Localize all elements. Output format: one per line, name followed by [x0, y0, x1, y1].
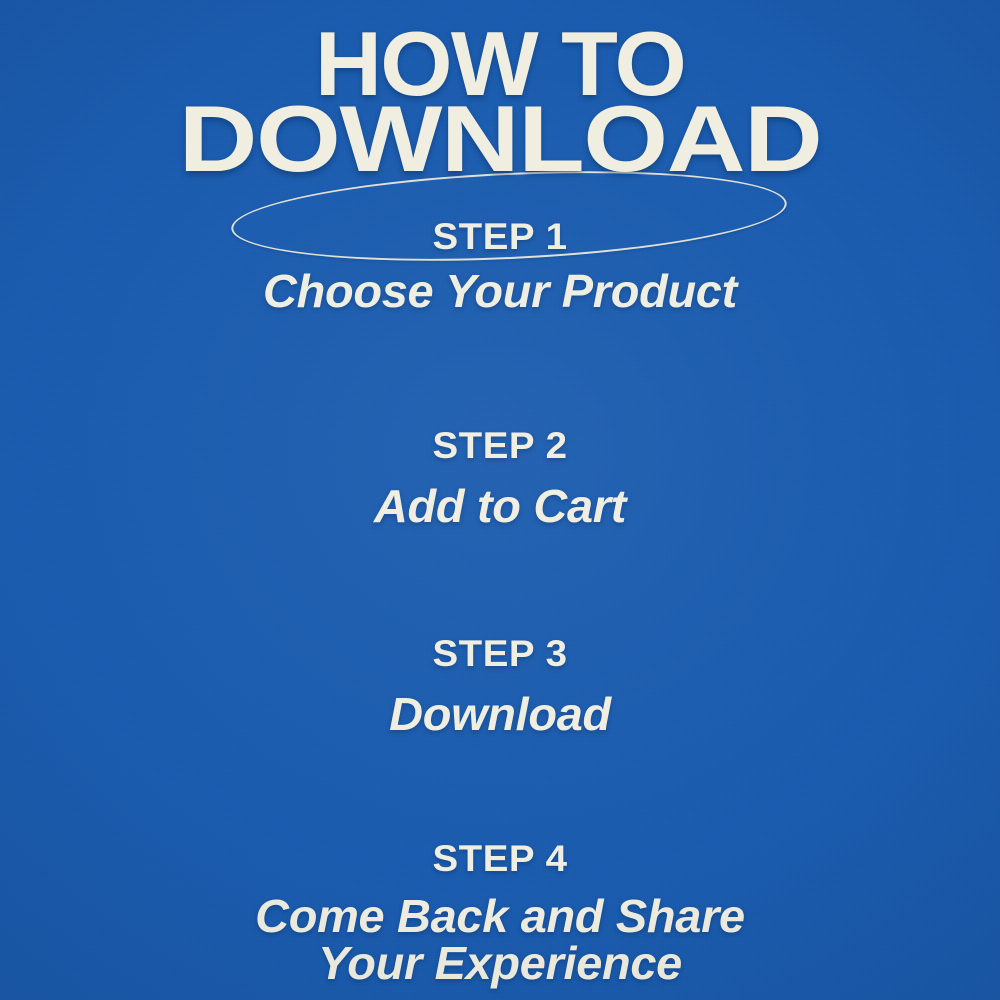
- step-3-description: Download: [0, 690, 1000, 738]
- title-block: HOW TO DOWNLOAD: [0, 28, 1000, 193]
- title-download-wrapper: DOWNLOAD: [0, 101, 1000, 193]
- title-line-download: DOWNLOAD: [0, 99, 1000, 180]
- step-4-label: STEP 4: [0, 840, 1000, 877]
- how-to-download-poster: HOW TO DOWNLOAD STEP 1 Choose Your Produ…: [0, 0, 1000, 1000]
- step-item-2: STEP 2 Add to Cart: [0, 427, 1000, 530]
- step-item-3: STEP 3 Download: [0, 635, 1000, 738]
- step-1-description: Choose Your Product: [0, 267, 1000, 315]
- steps-list: STEP 1 Choose Your Product STEP 2 Add to…: [0, 200, 1000, 987]
- step-3-label: STEP 3: [0, 635, 1000, 672]
- step-4-description: Come Back and Share Your Experience: [0, 893, 1000, 987]
- step-item-4: STEP 4 Come Back and Share Your Experien…: [0, 840, 1000, 987]
- step-2-description: Add to Cart: [0, 482, 1000, 530]
- step-2-label: STEP 2: [0, 427, 1000, 464]
